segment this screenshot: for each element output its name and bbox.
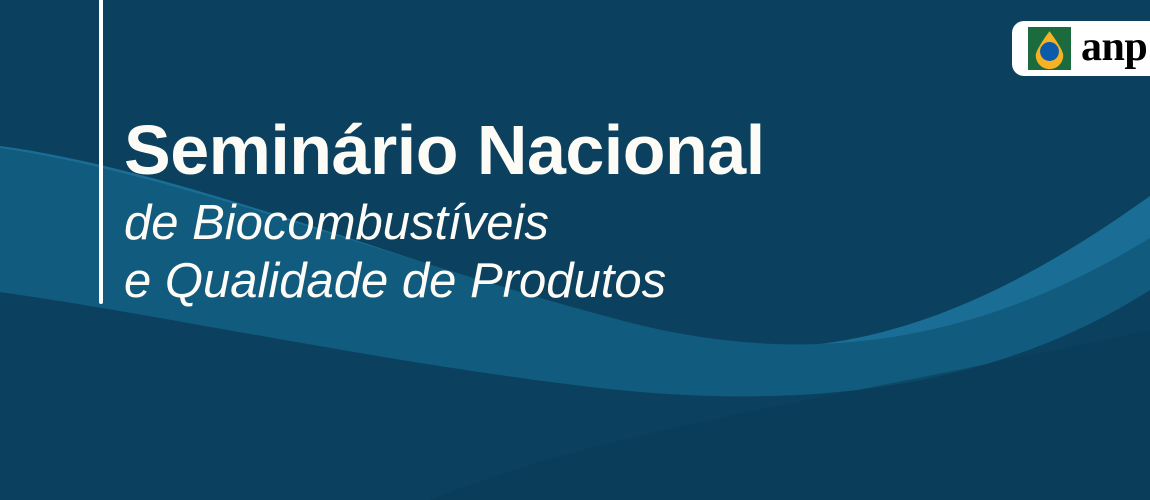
logo-blue-circle: [1040, 42, 1059, 61]
anp-wordmark: anp: [1081, 26, 1147, 68]
anp-droplet-icon: [1028, 27, 1071, 70]
accent-rule: [99, 0, 103, 304]
title-block: Seminário Nacional de Biocombustíveis e …: [124, 108, 924, 310]
subtitle-line-2: e Qualidade de Produtos: [124, 252, 924, 310]
anp-logo[interactable]: anp: [1012, 21, 1150, 76]
page-title: Seminário Nacional: [124, 108, 924, 192]
subtitle-line-1: de Biocombustíveis: [124, 194, 924, 252]
event-banner: Seminário Nacional de Biocombustíveis e …: [0, 0, 1150, 500]
